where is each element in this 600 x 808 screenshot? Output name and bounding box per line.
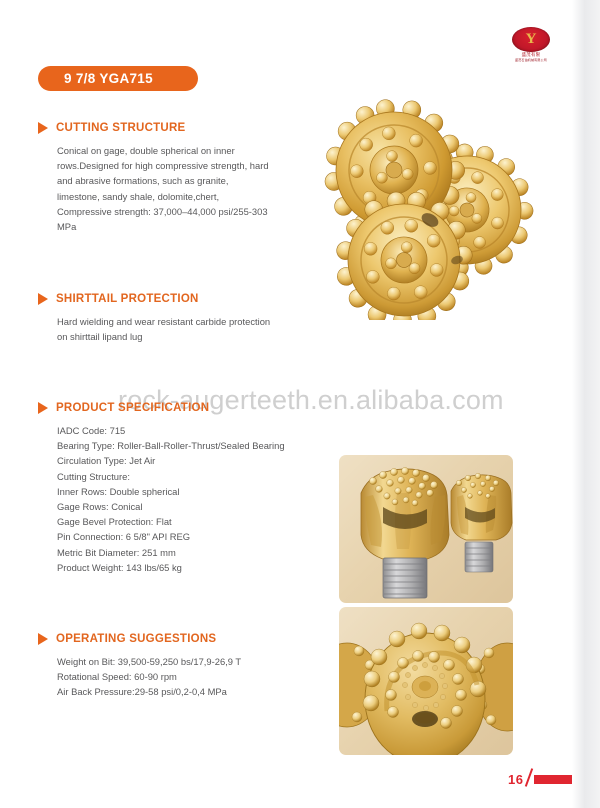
section-body: Weight on Bit: 39,500-59,250 bs/17,9-26,… [38,654,338,700]
section-heading: OPERATING SUGGESTIONS [38,631,338,647]
body-line: limestone, sandy shale, dolomite,chert, [57,189,328,204]
section-title: OPERATING SUGGESTIONS [56,633,216,645]
body-line: on shirttail lipand lug [57,329,338,344]
section-body: Conical on gage, double spherical on inn… [38,143,328,234]
section-heading: PRODUCT SPECIFICATION [38,400,368,416]
body-line: Rotational Speed: 60-90 rpm [57,669,338,684]
logo-monogram: Y [512,29,550,50]
body-line: Conical on gage, double spherical on inn… [57,143,328,158]
tricone-bit-photo [322,92,534,320]
page-number-slash [525,768,533,787]
spec-item: Pin Connection: 6 5/8" API REG [57,529,368,544]
section-title: SHIRTTAIL PROTECTION [56,293,199,305]
spec-list: IADC Code: 715 Bearing Type: Roller-Ball… [38,423,368,575]
spec-item: Metric Bit Diameter: 251 mm [57,545,368,560]
page-number: 16 [508,772,523,787]
spec-item: Circulation Type: Jet Air [57,453,368,468]
body-line: Air Back Pressure:29-58 psi/0,2-0,4 MPa [57,684,338,699]
triangle-bullet-icon [38,633,48,645]
spec-item: Cutting Structure: [57,469,368,484]
section-product-specification: PRODUCT SPECIFICATION IADC Code: 715 Bea… [38,400,368,575]
section-heading: CUTTING STRUCTURE [38,120,328,136]
triangle-bullet-icon [38,122,48,134]
cone-closeup-photo [339,607,513,755]
logo-chinese-subname: 盛茂石油机械有限公司 [513,58,549,62]
catalog-page: Y 盛茂有限 盛茂石油机械有限公司 9 7/8 YGA715 rock-auge… [0,0,600,808]
bit-pair-photo [339,455,513,603]
spec-item: IADC Code: 715 [57,423,368,438]
section-body: Hard wielding and wear resistant carbide… [38,314,338,344]
body-line: rows.Designed for high compressive stren… [57,158,328,173]
triangle-bullet-icon [38,402,48,414]
footer-accent-bar [534,775,572,784]
body-line: MPa [57,219,328,234]
spec-item: Product Weight: 143 lbs/65 kg [57,560,368,575]
section-heading: SHIRTTAIL PROTECTION [38,291,338,307]
body-line: and abrasive formations, such as granite… [57,173,328,188]
section-title: PRODUCT SPECIFICATION [56,402,209,414]
spec-item: Bearing Type: Roller-Ball-Roller-Thrust/… [57,438,368,453]
section-shirttail-protection: SHIRTTAIL PROTECTION Hard wielding and w… [38,291,338,344]
triangle-bullet-icon [38,293,48,305]
body-line: Weight on Bit: 39,500-59,250 bs/17,9-26,… [57,654,338,669]
page-edge-shading [572,0,600,808]
body-line: Compressive strength: 37,000–44,000 psi/… [57,204,328,219]
product-title-badge: 9 7/8 YGA715 [38,66,198,91]
spec-item: Inner Rows: Double spherical [57,484,368,499]
spec-item: Gage Rows: Conical [57,499,368,514]
section-cutting-structure: CUTTING STRUCTURE Conical on gage, doubl… [38,120,328,234]
spec-item: Gage Bevel Protection: Flat [57,514,368,529]
section-title: CUTTING STRUCTURE [56,122,185,134]
section-operating-suggestions: OPERATING SUGGESTIONS Weight on Bit: 39,… [38,631,338,700]
body-line: Hard wielding and wear resistant carbide… [57,314,338,329]
company-logo: Y 盛茂有限 盛茂石油机械有限公司 [512,27,550,63]
